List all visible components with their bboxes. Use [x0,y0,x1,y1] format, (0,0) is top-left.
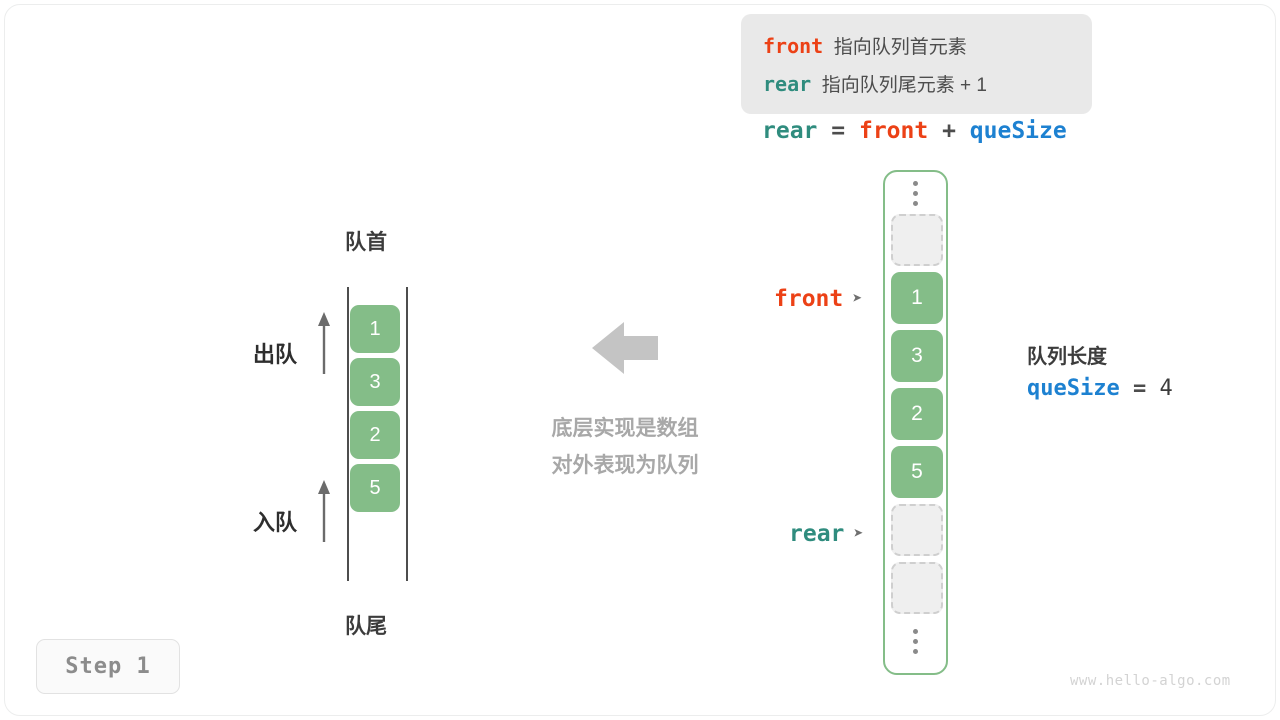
formula-rear: rear [762,118,817,144]
step-badge: Step 1 [36,639,180,694]
diagram-canvas: front 指向队列首元素 rear 指向队列尾元素 + 1 rear = fr… [0,0,1280,720]
quesize-name: queSize [1027,376,1120,401]
quesize-equals: = [1133,376,1146,401]
queue-cell-3[interactable]: 2 [350,411,400,459]
legend-line-rear: rear 指向队列尾元素 + 1 [763,66,1070,104]
rear-description: 指向队列尾元素 + 1 [822,75,987,96]
dequeue-label: 出队 [253,337,297,369]
array-cell-empty-top[interactable] [891,214,943,266]
queue-cell-1[interactable]: 1 [350,305,400,353]
array-cell-4[interactable]: 5 [891,446,943,498]
arrow-left-icon [592,320,658,376]
watermark: www.hello-algo.com [1070,673,1231,689]
array-top-ellipsis-icon [885,176,946,210]
formula-equals: = [831,118,845,144]
quesize-cn-label: 队列长度 [1027,342,1173,372]
quesize-expression: queSize = 4 [1027,372,1173,406]
front-keyword: front [763,34,823,58]
front-pointer-label: front ➤ [774,286,863,312]
rear-pointer-text: rear [789,521,844,547]
array-cell-empty-rear[interactable] [891,504,943,556]
rear-formula: rear = front + queSize [762,118,1067,144]
rear-pointer-label: rear ➤ [789,521,864,547]
array-cell-1[interactable]: 1 [891,272,943,324]
queue-rail-left [347,287,349,581]
array-bottom-ellipsis-icon [885,624,946,658]
queue-cell-2[interactable]: 3 [350,358,400,406]
quesize-value: 4 [1159,376,1172,401]
queue-tail-label: 队尾 [345,610,387,640]
queue-rail-right [406,287,408,581]
front-pointer-text: front [774,286,843,312]
formula-quesize: queSize [970,118,1067,144]
rear-pointer-arrow-icon: ➤ [853,526,863,543]
legend-line-front: front 指向队列首元素 [763,28,1070,66]
note-line-2: 对外表现为队列 [528,447,722,484]
pointer-legend-box: front 指向队列首元素 rear 指向队列尾元素 + 1 [741,14,1092,114]
queue-head-label: 队首 [345,226,387,256]
array-cell-3[interactable]: 2 [891,388,943,440]
quesize-annotation: 队列长度 queSize = 4 [1027,342,1173,406]
array-container: 1 3 2 5 [883,170,948,675]
dequeue-arrow-icon [317,312,331,374]
note-line-1: 底层实现是数组 [528,410,722,447]
formula-plus: + [942,118,956,144]
rear-keyword: rear [763,72,811,96]
enqueue-arrow-icon [317,480,331,542]
front-pointer-arrow-icon: ➤ [852,291,862,308]
formula-front: front [859,118,928,144]
queue-cell-4[interactable]: 5 [350,464,400,512]
array-cell-2[interactable]: 3 [891,330,943,382]
enqueue-label: 入队 [253,505,297,537]
array-cell-empty-bottom[interactable] [891,562,943,614]
underlying-implementation-note: 底层实现是数组 对外表现为队列 [528,410,722,484]
front-description: 指向队列首元素 [834,37,967,58]
